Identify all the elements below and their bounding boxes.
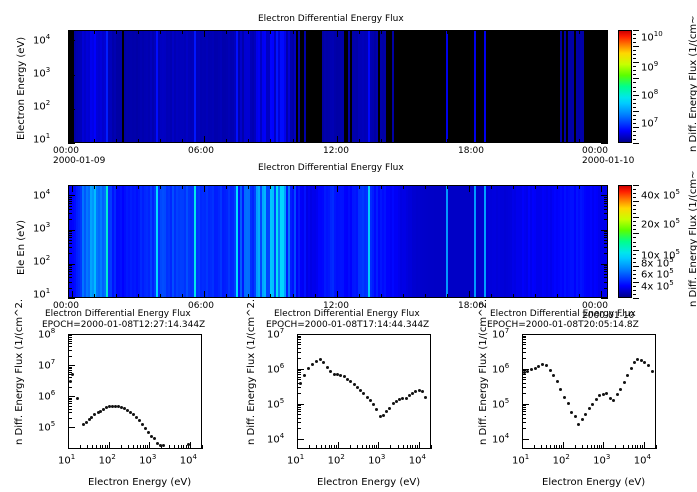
- spectrum-xtick: [644, 442, 645, 449]
- left-spectrum-subtitle: EPOCH=2000-01-08T12:27:14.344Z: [42, 320, 205, 330]
- spectrum-xtick: [534, 445, 535, 449]
- spectrum-xtick: [102, 445, 103, 449]
- middle-xtick: [248, 294, 249, 298]
- spectrum-ytick-label: 104: [492, 432, 509, 445]
- cb-exp: 5: [669, 256, 673, 264]
- cb2-tickmark: [633, 193, 636, 194]
- spectrum-data-point: [567, 402, 570, 405]
- spectrum-ytick: [522, 404, 529, 405]
- spectrum-ytick: [522, 342, 526, 343]
- cb2-tick-4e5: 4x 105: [641, 279, 674, 292]
- middle-colorbar: [618, 185, 632, 298]
- ytick-mantissa: 10: [38, 360, 51, 371]
- top-xtick: [491, 139, 492, 143]
- spectrum-data-point: [85, 421, 88, 424]
- cb1-tickmark: [633, 119, 636, 120]
- cb2-tickmark: [633, 209, 636, 210]
- top-xtick: [535, 139, 536, 143]
- middle-xtick-t: [72, 185, 73, 192]
- spectrum-xtick: [594, 445, 595, 449]
- middle-xtick-t: [270, 185, 271, 189]
- top-colorbar-label: n Diff. Energy Flux (1/(cm~: [688, 15, 697, 152]
- cb1-tickmark: [633, 70, 636, 71]
- cb-exp: 5: [676, 248, 680, 256]
- middle-ytick: [68, 219, 72, 220]
- cb1-tick-1e7: 107: [641, 116, 658, 129]
- middle-xtick: [425, 294, 426, 298]
- cb1-tickmark: [633, 91, 636, 92]
- spectrum-xtick: [178, 445, 179, 449]
- top-xtick: [270, 139, 271, 143]
- cb-exp: 7: [654, 116, 658, 124]
- spectrum-xtick: [80, 445, 81, 449]
- spectrum-xtick: [587, 445, 588, 449]
- spectrum-xtick: [398, 445, 399, 449]
- spectrum-xtick: [642, 445, 643, 449]
- spectrum-xtick-label: 101: [512, 453, 529, 466]
- spectrum-ytick: [522, 439, 529, 440]
- cb2-tickmark: [633, 197, 636, 198]
- top-xtick: [138, 139, 139, 143]
- middle-ytick-r: [604, 267, 608, 268]
- middle-xtick: [491, 294, 492, 298]
- spectrum-xtick: [550, 445, 551, 449]
- ytick-mantissa: 10: [492, 329, 505, 340]
- mid-ytick-1e3: 103: [33, 221, 50, 234]
- spectrum-xtick: [417, 445, 418, 449]
- cb2-tickmark: [633, 205, 636, 206]
- ytick-exp: 4: [46, 188, 50, 196]
- top-xtick-t: [270, 30, 271, 34]
- spectrum-ytick: [297, 352, 301, 353]
- spectrum-ytick: [297, 428, 301, 429]
- top-ytick-r: [604, 80, 608, 81]
- xtick-mantissa: 10: [180, 455, 193, 466]
- cb-mantissa: 40x 10: [641, 190, 676, 201]
- ytick-exp: 4: [505, 432, 509, 440]
- middle-xtick: [94, 294, 95, 298]
- cb1-tickmark: [633, 139, 636, 140]
- spectrum-ytick: [522, 377, 526, 378]
- spectrum-ytick: [68, 337, 72, 338]
- middle-ytick: [68, 209, 72, 210]
- spectrum-xtick: [374, 445, 375, 449]
- xtick-mantissa: 10: [58, 455, 71, 466]
- top-ytick-r: [604, 98, 608, 99]
- middle-ytick: [68, 237, 72, 238]
- spectrum-xtick: [412, 445, 413, 449]
- cb1-tickmark: [633, 54, 636, 55]
- middle-ytick-r: [604, 213, 608, 214]
- top-ytick-r: [601, 40, 608, 41]
- spectrum-xtick: [615, 445, 616, 449]
- xtick-mantissa: 10: [553, 455, 566, 466]
- spectrum-xtick: [554, 445, 555, 449]
- spectrum-ytick: [68, 409, 72, 410]
- spectrum-ytick: [68, 427, 75, 428]
- spectrum-data-point: [392, 402, 395, 405]
- top-xtick-t: [601, 30, 602, 37]
- top-xtick-t: [182, 30, 183, 34]
- spectrum-ytick: [68, 398, 72, 399]
- ytick-exp: 6: [280, 362, 284, 370]
- middle-xtick-t: [160, 185, 161, 189]
- ytick-exp: 4: [280, 432, 284, 440]
- top-ytick: [68, 88, 72, 89]
- cb-mantissa: 4x 10: [641, 281, 669, 292]
- spectrum-ytick-label: 105: [267, 397, 284, 410]
- spectrum-xtick-label: 103: [139, 453, 156, 466]
- spectrum-xtick: [407, 445, 408, 449]
- spectrum-xtick: [92, 445, 93, 449]
- middle-ytick-r: [604, 203, 608, 204]
- ytick-mantissa: 10: [33, 289, 46, 300]
- spectrum-data-point: [329, 370, 332, 373]
- spectrum-ytick: [297, 439, 304, 440]
- spectrum-ytick: [297, 414, 301, 415]
- mid-spectrum-subtitle: EPOCH=2000-01-08T17:14:44.344Z: [266, 320, 429, 330]
- spectrum-ytick: [68, 341, 72, 342]
- spectrum-xtick-label: 104: [180, 453, 197, 466]
- top-xtick-t: [226, 30, 227, 34]
- xtick-exp: 1: [525, 453, 529, 461]
- spectrum-ytick: [68, 403, 72, 404]
- ytick-mantissa: 10: [38, 392, 51, 403]
- top-ytick: [68, 98, 72, 99]
- top-xtick: [579, 139, 580, 143]
- middle-xtick-t: [425, 185, 426, 189]
- xtick-exp: 2: [340, 453, 344, 461]
- spectrum-data-point: [595, 398, 598, 401]
- middle-xtick-t: [293, 185, 294, 189]
- middle-ytick: [68, 199, 72, 200]
- spectrum-xtick: [378, 442, 379, 449]
- spectrum-data-point: [552, 374, 555, 377]
- top-ytick: [68, 112, 72, 113]
- spectrum-xtick: [599, 445, 600, 449]
- top-ytick-r: [604, 46, 608, 47]
- xtick-exp: 2: [565, 453, 569, 461]
- cb2-tickmark: [633, 266, 639, 267]
- spectrum-ytick: [522, 407, 526, 408]
- spectrum-data-point: [326, 366, 329, 369]
- spectrum-data-point: [534, 367, 537, 370]
- middle-ytick-r: [604, 219, 608, 220]
- middle-xtick: [116, 294, 117, 298]
- ytick-exp: 7: [280, 327, 284, 335]
- top-ytick: [68, 110, 72, 111]
- right-spectrum-subtitle: EPOCH=2000-01-08T20:05:14.8Z: [487, 320, 639, 330]
- cb2-tickmark: [633, 254, 636, 255]
- spectrum-data-point: [545, 364, 548, 367]
- spectrum-xtick: [350, 445, 351, 449]
- cb-exp: 9: [654, 60, 658, 68]
- ytick-exp: 3: [46, 66, 50, 74]
- spectrum-data-point: [299, 382, 302, 385]
- spectrum-xtick: [137, 445, 138, 449]
- top-ytick-r: [601, 75, 608, 76]
- spectrum-xtick: [522, 442, 523, 449]
- top-ytick: [68, 127, 72, 128]
- spectrum-ytick: [522, 414, 526, 415]
- right-spectrum-xlabel: Electron Energy (eV): [542, 477, 645, 488]
- top-xtick-t: [138, 30, 139, 34]
- ytick-mantissa: 10: [38, 423, 51, 434]
- spectrum-ytick: [522, 383, 526, 384]
- middle-ytick-r: [604, 240, 608, 241]
- middle-ytick: [68, 201, 72, 202]
- middle-ytick-r: [604, 201, 608, 202]
- middle-ytick-r: [604, 231, 608, 232]
- cb1-tickmark: [633, 123, 636, 124]
- spectrum-xtick: [369, 445, 370, 449]
- spectrum-data-point: [630, 367, 633, 370]
- spectrum-ytick: [297, 422, 301, 423]
- spectrum-ytick: [68, 370, 72, 371]
- spectrum-xtick: [575, 445, 576, 449]
- spectrum-ytick-label: 108: [38, 327, 55, 340]
- spectrum-ytick: [297, 348, 301, 349]
- spectrum-xtick: [628, 445, 629, 449]
- cb1-tickmark: [633, 82, 636, 83]
- spectrum-data-point: [647, 364, 650, 367]
- cb1-tickmark: [633, 78, 639, 79]
- cb1-tickmark: [633, 99, 636, 100]
- spectrum-ytick-label: 106: [492, 362, 509, 375]
- spectrum-data-point: [588, 407, 591, 410]
- ytick-exp: 8: [51, 327, 55, 335]
- xtick-exp: 3: [381, 453, 385, 461]
- top-ytick: [68, 64, 72, 65]
- middle-ytick-r: [604, 247, 608, 248]
- spectrum-xtick: [147, 445, 148, 449]
- top-xtick-t: [469, 30, 470, 37]
- ytick-exp: 5: [51, 420, 55, 428]
- top-ytick-r: [604, 119, 608, 120]
- top-ytick-1e1: 101: [33, 132, 50, 145]
- cb2-tickmark: [633, 262, 636, 263]
- right-spectrum-title: Electron Differential Energy Flux: [490, 309, 636, 319]
- ytick-mantissa: 10: [267, 399, 280, 410]
- spectrum-ytick: [297, 370, 301, 371]
- top-ytick-r: [604, 122, 608, 123]
- top-ytick-r: [604, 114, 608, 115]
- spectrum-xtick: [109, 442, 110, 449]
- spectrum-ytick: [522, 418, 526, 419]
- spectrum-xtick-label: 101: [58, 453, 75, 466]
- cb2-tickmark: [633, 246, 636, 247]
- cb2-tickmark: [633, 185, 639, 186]
- spectrum-xtick: [183, 445, 184, 449]
- cb2-tickmark: [633, 225, 636, 226]
- middle-ytick: [68, 195, 75, 196]
- spectrum-ytick: [68, 356, 72, 357]
- spectrum-data-point: [616, 393, 619, 396]
- mid-ytick-1e1: 101: [33, 287, 50, 300]
- top-ytick-r: [604, 110, 608, 111]
- middle-yaxis-label: Ele En (eV): [16, 220, 27, 275]
- spectrum-ytick: [522, 374, 526, 375]
- middle-ytick: [68, 265, 72, 266]
- spectrum-ytick: [522, 336, 526, 337]
- spectrum-ytick: [522, 358, 526, 359]
- top-xtick-t: [491, 30, 492, 34]
- middle-xtick: [182, 294, 183, 298]
- top-ytick: [68, 82, 72, 83]
- top-xtick: [447, 139, 448, 143]
- middle-ytick-r: [604, 265, 608, 266]
- ytick-mantissa: 10: [33, 134, 46, 145]
- top-xtick: [182, 139, 183, 143]
- cb1-tickmark: [633, 30, 639, 31]
- xtick-mantissa: 10: [593, 455, 606, 466]
- middle-xtick-t: [579, 185, 580, 189]
- middle-ytick: [68, 206, 72, 207]
- spectrum-xtick: [181, 445, 182, 449]
- spectrum-data-point: [369, 399, 372, 402]
- spectrum-ytick: [297, 409, 301, 410]
- middle-colorbar-label: n Diff. Energy Flux (1/(cm~: [688, 170, 697, 307]
- top-xtick-t: [315, 30, 316, 34]
- cb2-tickmark: [633, 286, 636, 287]
- spectrum-ytick-label: 106: [267, 362, 284, 375]
- spectrum-ytick: [68, 335, 72, 336]
- spectrum-ytick: [522, 352, 526, 353]
- ytick-exp: 5: [505, 397, 509, 405]
- top-ytick: [68, 51, 72, 52]
- middle-xtick: [270, 294, 271, 298]
- spectrum-ytick: [522, 339, 526, 340]
- top-xtick: [248, 139, 249, 143]
- top-xtick-t: [293, 30, 294, 34]
- xtick-exp: 3: [152, 453, 156, 461]
- cb2-tickmark: [633, 294, 636, 295]
- top-ytick: [68, 143, 75, 144]
- top-ytick-r: [604, 42, 608, 43]
- xtick-mantissa: 10: [634, 455, 647, 466]
- ytick-exp: 1: [46, 287, 50, 295]
- spectrum-xtick: [603, 442, 604, 449]
- panel-spectrum-right: Electron Differential Energy Flux EPOCH=…: [464, 305, 697, 492]
- top-ytick-r: [604, 54, 608, 55]
- middle-ytick: [68, 288, 72, 289]
- top-ytick: [68, 54, 72, 55]
- spectrum-xtick-label: 102: [553, 453, 570, 466]
- middle-ytick: [68, 267, 72, 268]
- middle-xtick-t: [381, 185, 382, 189]
- spectrum-data-point: [319, 358, 322, 361]
- spectrum-ytick-label: 105: [38, 420, 55, 433]
- top-ytick: [68, 80, 72, 81]
- ytick-mantissa: 10: [33, 35, 46, 46]
- middle-ytick: [68, 269, 72, 270]
- cb-mantissa: 10: [641, 118, 654, 129]
- top-ytick: [68, 109, 75, 110]
- xtick-mantissa: 10: [99, 455, 112, 466]
- cb2-tickmark: [633, 298, 639, 299]
- top-ytick: [68, 122, 72, 123]
- middle-xtick-t: [403, 185, 404, 189]
- spectrum-xtick: [376, 445, 377, 449]
- cb2-tickmark: [633, 270, 636, 271]
- top-ytick-r: [604, 112, 608, 113]
- mid-spectrum-ylabel: n Diff. Energy Flux (1/(cm^2.: [246, 299, 257, 445]
- spectrum-xtick: [329, 445, 330, 449]
- middle-xtick: [337, 291, 338, 298]
- top-xtick-t: [160, 30, 161, 34]
- cb-exp: 5: [669, 279, 673, 287]
- spectrum-data-point: [530, 368, 533, 371]
- top-xtick-t: [116, 30, 117, 34]
- cb2-tickmark: [633, 233, 639, 234]
- spectrum-ytick: [297, 405, 301, 406]
- top-xtick-t: [557, 30, 558, 34]
- top-ytick-r: [604, 76, 608, 77]
- middle-ytick: [68, 271, 72, 272]
- spectrum-ytick: [522, 344, 526, 345]
- spectrum-xtick: [338, 442, 339, 449]
- middle-xtick: [513, 294, 514, 298]
- spectrum-xtick: [121, 445, 122, 449]
- cb-mantissa: 10: [641, 32, 654, 43]
- middle-xtick-t: [226, 185, 227, 189]
- top-xtick-t: [425, 30, 426, 34]
- middle-ytick: [68, 247, 72, 248]
- spectrum-ytick: [297, 372, 301, 373]
- top-xtick: [469, 136, 470, 143]
- spectrum-xtick: [321, 445, 322, 449]
- spectrum-xtick: [561, 445, 562, 449]
- cb1-tickmark: [633, 50, 636, 51]
- spectrum-ytick: [297, 358, 301, 359]
- spectrum-ytick: [522, 387, 526, 388]
- spectrum-ytick: [522, 334, 529, 335]
- ytick-mantissa: 10: [33, 101, 46, 112]
- spectrum-xtick: [145, 445, 146, 449]
- spectrum-ytick: [68, 401, 72, 402]
- cb2-tickmark: [633, 274, 636, 275]
- middle-xtick: [72, 291, 73, 298]
- spectrum-xtick: [601, 445, 602, 449]
- top-ytick-r: [604, 92, 608, 93]
- top-xtick: [72, 136, 73, 143]
- spectrum-xtick: [366, 445, 367, 449]
- ytick-mantissa: 10: [267, 434, 280, 445]
- spectrum-data-point: [651, 370, 654, 373]
- cb1-tickmark: [633, 111, 639, 112]
- middle-xtick: [579, 294, 580, 298]
- cb1-tick-1e10: 1010: [641, 30, 663, 43]
- top-ytick: [68, 48, 72, 49]
- middle-ytick-r: [604, 243, 608, 244]
- ytick-exp: 3: [46, 221, 50, 229]
- middle-xtick: [403, 294, 404, 298]
- spectrum-xtick: [415, 445, 416, 449]
- spectrum-data-point: [343, 375, 346, 378]
- middle-ytick: [68, 230, 75, 231]
- top-xtick-t: [94, 30, 95, 34]
- cb1-tickmark: [633, 62, 639, 63]
- spectrum-ytick: [297, 369, 304, 370]
- xtick-mantissa: 10: [409, 455, 422, 466]
- middle-xtick-t: [116, 185, 117, 189]
- spectrum-xtick: [334, 445, 335, 449]
- cb2-tickmark: [633, 290, 636, 291]
- left-spectrum-xlabel: Electron Energy (eV): [88, 477, 191, 488]
- spectrum-ytick: [297, 344, 301, 345]
- middle-xtick-t: [182, 185, 183, 189]
- spectrum-xtick: [632, 445, 633, 449]
